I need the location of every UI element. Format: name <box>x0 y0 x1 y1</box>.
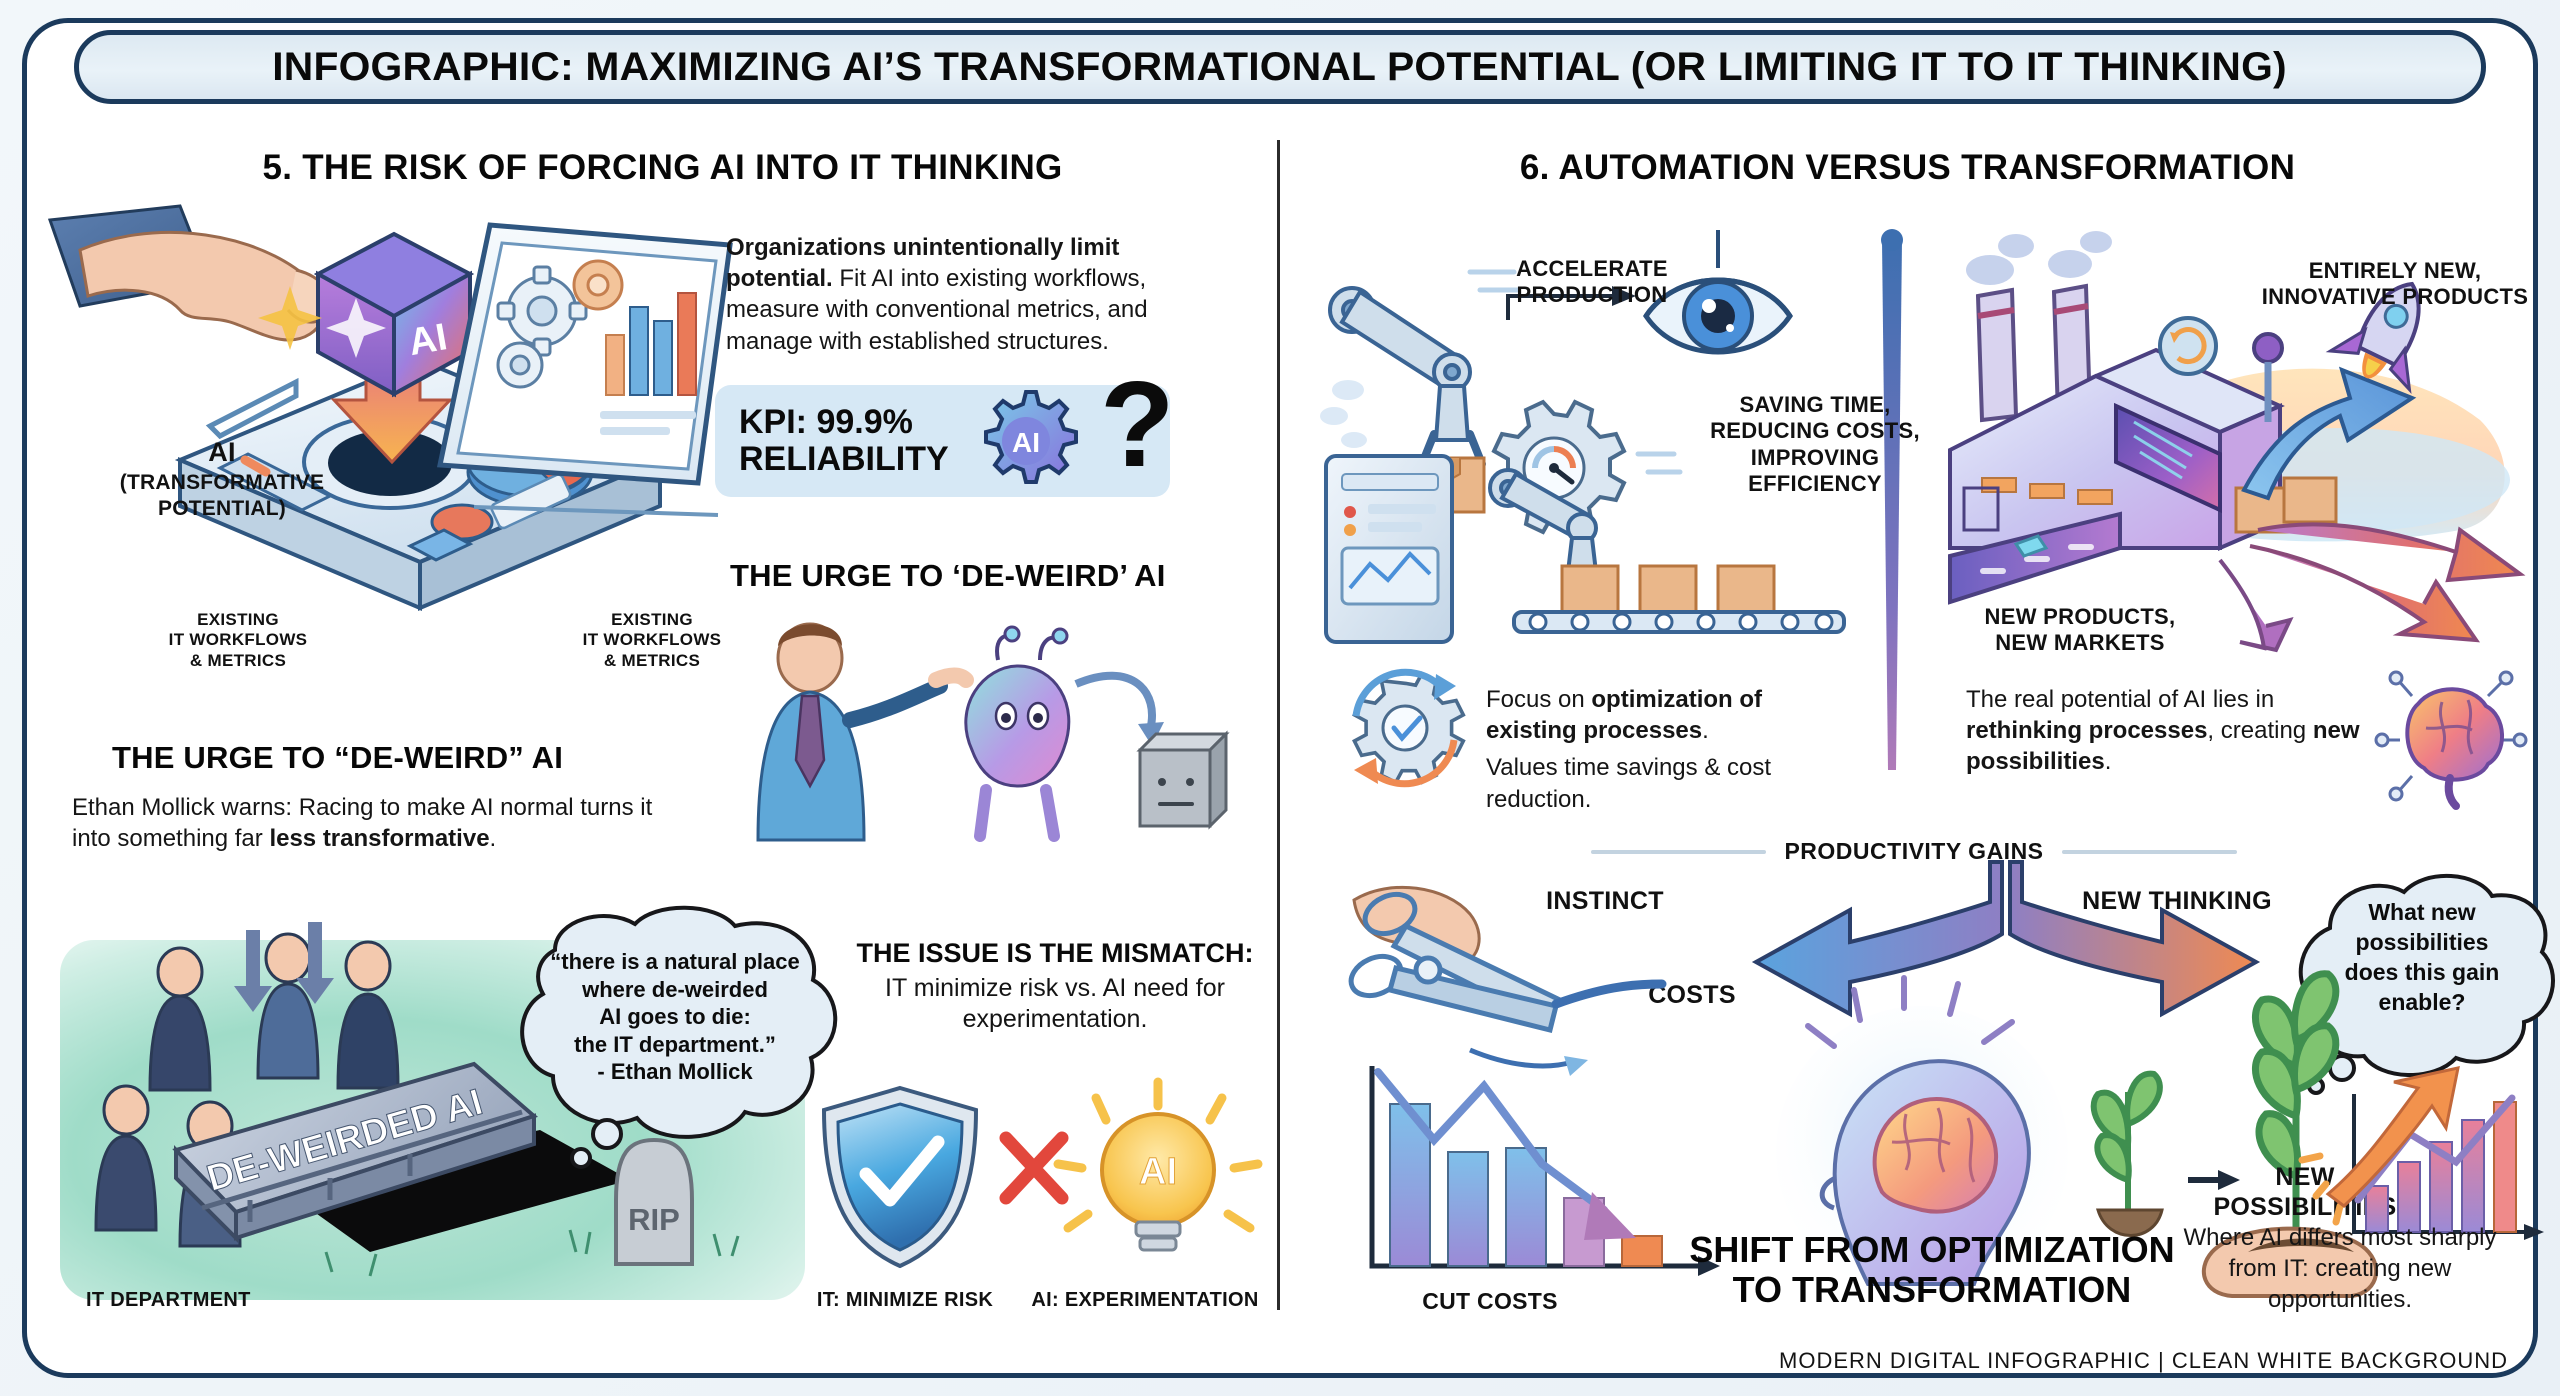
svg-text:AI: AI <box>1012 427 1040 458</box>
shift-heading-line-1: SHIFT FROM OPTIMIZATION <box>1612 1230 2252 1270</box>
ai-cube-label-line3: POTENTIAL) <box>72 496 372 522</box>
saving-time-label: SAVING TIME, REDUCING COSTS, IMPROVING E… <box>1690 392 1940 498</box>
entirely-new-products-label: ENTIRELY NEW, INNOVATIVE PRODUCTS <box>2230 258 2560 311</box>
ai-cube-label: AI (TRANSFORMATIVE POTENTIAL) <box>72 436 372 522</box>
existing-workflows-label-left: EXISTING IT WORKFLOWS & METRICS <box>118 610 358 671</box>
optimization-paragraph: Focus on optimization of existing proces… <box>1486 684 1856 815</box>
deweird-heading-right: THE URGE TO ‘DE-WEIRD’ AI <box>730 558 1166 594</box>
question-mark: ? <box>1100 363 1175 485</box>
right-panel-heading: 6. AUTOMATION VERSUS TRANSFORMATION <box>1300 148 2515 188</box>
bulb-label: AI: EXPERIMENTATION <box>1020 1288 1270 1312</box>
svg-text:RIP: RIP <box>628 1202 680 1237</box>
mismatch-block: THE ISSUE IS THE MISMATCH: IT minimize r… <box>845 938 1265 1036</box>
kpi-line-1: KPI: 99.9% <box>739 404 949 441</box>
footer-caption: MODERN DIGITAL INFOGRAPHIC | CLEAN WHITE… <box>1779 1348 2508 1374</box>
shield-label: IT: MINIMIZE RISK <box>790 1288 1020 1312</box>
optimization-pre: Focus on <box>1486 686 1591 713</box>
quote-line-2: where de-weirded <box>515 976 835 1004</box>
rethinking-post: . <box>2105 748 2112 775</box>
shield-x-bulb-illustration: AI <box>810 1080 1270 1290</box>
divider-line-left <box>1591 850 1766 854</box>
intro-paragraph: Organizations unintentionally limit pote… <box>726 232 1216 357</box>
quote-line-4: the IT department.” <box>515 1031 835 1059</box>
rethinking-bold-1: rethinking processes <box>1966 717 2207 744</box>
quote-line-1: “there is a natural place <box>515 948 835 976</box>
shift-heading: SHIFT FROM OPTIMIZATION TO TRANSFORMATIO… <box>1612 1230 2252 1311</box>
ai-gear-icon: AI <box>971 386 1081 496</box>
new-products-markets-label: NEW PRODUCTS, NEW MARKETS <box>1940 604 2220 657</box>
laptop-gears-chart-illustration <box>430 215 750 545</box>
rethinking-mid: , creating <box>2207 717 2312 744</box>
deweirding-creature-illustration <box>740 600 1240 860</box>
center-spine-divider <box>1880 230 1904 790</box>
kpi-line-2: RELIABILITY <box>739 441 949 478</box>
mollick-quote-text: “there is a natural place where de-weird… <box>515 948 835 1086</box>
page-title: INFOGRAPHIC: MAXIMIZING AI’S TRANSFORMAT… <box>273 45 2288 90</box>
column-divider <box>1277 140 1280 1310</box>
upward-trend-arrow <box>2310 1066 2470 1206</box>
rethinking-paragraph: The real potential of AI lies in rethink… <box>1966 684 2366 778</box>
cut-costs-label: CUT COSTS <box>1390 1288 1590 1316</box>
mollick-paragraph-end: . <box>490 825 497 852</box>
brain-network-icon <box>2376 660 2526 810</box>
left-panel-heading: 5. THE RISK OF FORCING AI INTO IT THINKI… <box>50 148 1275 188</box>
deweird-heading-left: THE URGE TO “DE-WEIRD” AI <box>112 740 563 776</box>
rethinking-pre: The real potential of AI lies in <box>1966 686 2274 713</box>
it-department-label: IT DEPARTMENT <box>86 1288 251 1312</box>
mollick-paragraph-bold: less transformative <box>269 825 489 852</box>
mollick-paragraph: Ethan Mollick warns: Racing to make AI n… <box>72 792 692 854</box>
existing-workflows-label-right: EXISTING IT WORKFLOWS & METRICS <box>532 610 772 671</box>
ai-cube-label-line2: (TRANSFORMATIVE <box>72 470 372 496</box>
quote-line-3: AI goes to die: <box>515 1003 835 1031</box>
kpi-text: KPI: 99.9% RELIABILITY <box>739 404 949 477</box>
ai-cube-label-line1: AI <box>72 436 372 470</box>
svg-text:AI: AI <box>1139 1151 1177 1193</box>
accelerate-production-label: ACCELERATE PRODUCTION <box>1462 256 1722 309</box>
optimization-post: . <box>1702 717 1709 744</box>
optimization-second-line: Values time savings & cost reduction. <box>1486 752 1856 814</box>
quote-line-5: - Ethan Mollick <box>515 1058 835 1086</box>
productivity-gains-label: PRODUCTIVITY GAINS <box>1784 838 2043 865</box>
infographic-canvas: INFOGRAPHIC: MAXIMIZING AI’S TRANSFORMAT… <box>0 0 2560 1396</box>
title-bar: INFOGRAPHIC: MAXIMIZING AI’S TRANSFORMAT… <box>74 30 2486 104</box>
optimization-cycle-icon <box>1340 660 1470 790</box>
closing-paragraph: Where AI differs most sharply from IT: c… <box>2170 1222 2510 1316</box>
mismatch-heading: THE ISSUE IS THE MISMATCH: <box>845 938 1265 969</box>
productivity-gains-divider: PRODUCTIVITY GAINS <box>1404 838 2424 865</box>
divider-line-right <box>2062 850 2237 854</box>
shift-heading-line-2: TO TRANSFORMATION <box>1612 1270 2252 1310</box>
mismatch-body: IT minimize risk vs. AI need for experim… <box>845 973 1265 1036</box>
